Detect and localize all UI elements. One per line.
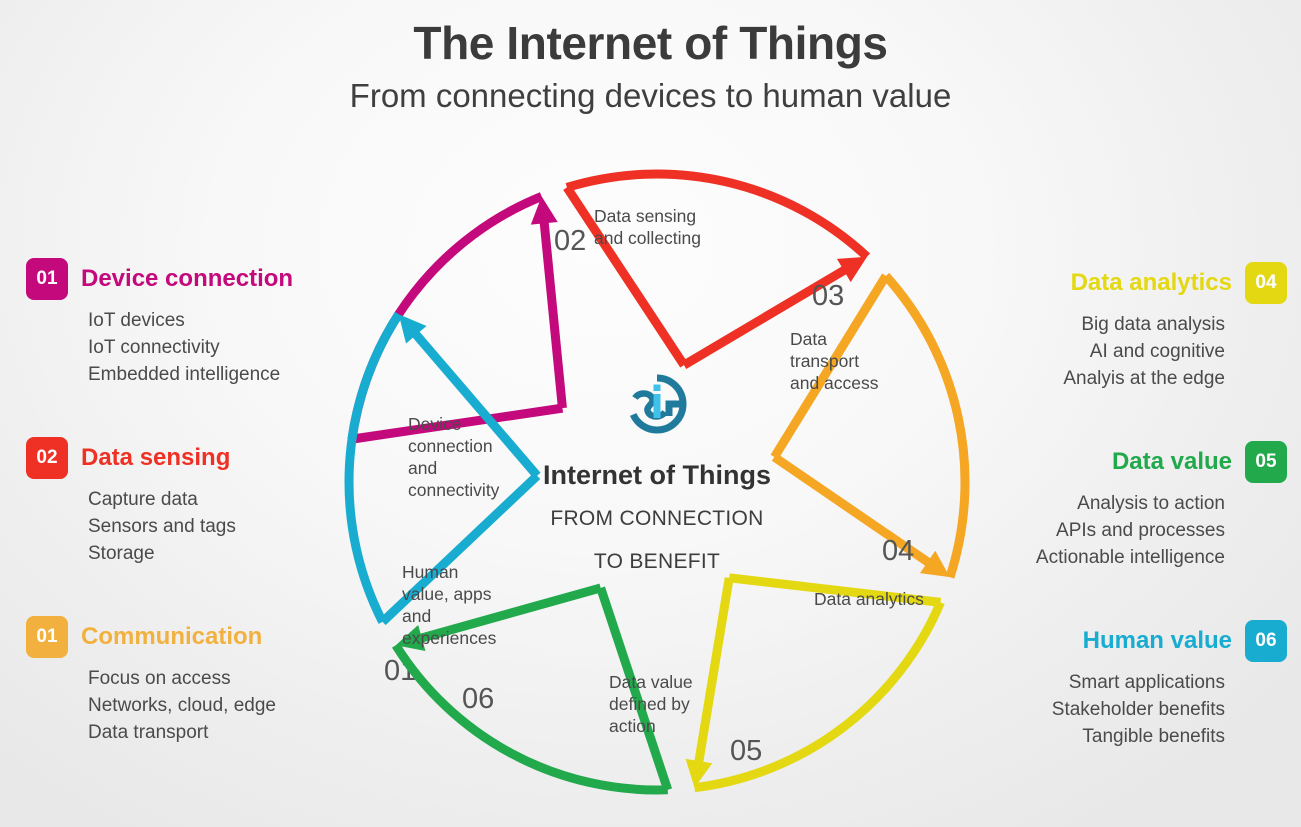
- legend-item[interactable]: 01CommunicationFocus on accessNetworks, …: [26, 616, 371, 747]
- legend-item-header: 04Data analytics: [942, 262, 1287, 304]
- segment-label-line: action: [609, 716, 656, 736]
- segment-label-line: experiences: [402, 628, 497, 648]
- legend-item-title: Communication: [81, 624, 262, 650]
- segment-label-line: transport: [790, 351, 859, 371]
- segment-label-line: defined by: [609, 694, 690, 714]
- legend-item-title: Data value: [1112, 449, 1232, 475]
- legend-item-title: Human value: [1083, 628, 1232, 654]
- legend-item-title: Data sensing: [81, 445, 230, 471]
- legend-number-badge: 04: [1245, 262, 1287, 304]
- legend-item-lines: Analysis to actionAPIs and processesActi…: [942, 491, 1287, 572]
- legend-item[interactable]: 05Data valueAnalysis to actionAPIs and p…: [942, 441, 1287, 572]
- page-title: The Internet of Things: [0, 18, 1301, 70]
- legend-item-lines: Big data analysisAI and cognitiveAnalyis…: [942, 312, 1287, 393]
- legend-item-title: Data analytics: [1071, 270, 1232, 296]
- legend-item-lines: IoT devicesIoT connectivityEmbedded inte…: [26, 308, 371, 389]
- legend-item-lines: Capture dataSensors and tagsStorage: [26, 487, 371, 568]
- segment-label-line: Data analytics: [814, 589, 924, 609]
- segment-number: 05: [730, 735, 762, 767]
- legend-item-lines: Focus on accessNetworks, cloud, edgeData…: [26, 666, 371, 747]
- legend-item-header: 02Data sensing: [26, 437, 371, 479]
- legend-number-badge: 06: [1245, 620, 1287, 662]
- segment-label-line: Human: [402, 562, 458, 582]
- segment-label-line: Device: [408, 414, 462, 434]
- legend-item-title: Device connection: [81, 266, 293, 292]
- page-header: The Internet of Things From connecting d…: [0, 0, 1301, 115]
- segment-label-line: connection: [408, 436, 493, 456]
- legend-item-header: 01Communication: [26, 616, 371, 658]
- left-legend-panel: 01Device connectionIoT devicesIoT connec…: [26, 258, 371, 747]
- cycle-diagram-svg: 01Deviceconnectionandconnectivity02Data …: [322, 160, 992, 820]
- legend-number-badge: 05: [1245, 441, 1287, 483]
- infographic-page: The Internet of Things From connecting d…: [0, 0, 1301, 827]
- segment-label-line: and: [402, 606, 431, 626]
- right-legend-panel: 04Data analyticsBig data analysisAI and …: [942, 262, 1287, 751]
- legend-item[interactable]: 01Device connectionIoT devicesIoT connec…: [26, 258, 371, 389]
- segment-label-line: Data: [790, 329, 827, 349]
- legend-item[interactable]: 04Data analyticsBig data analysisAI and …: [942, 262, 1287, 393]
- segment-number: 04: [882, 535, 914, 567]
- page-subtitle: From connecting devices to human value: [0, 76, 1301, 116]
- segment-label-line: and access: [790, 373, 879, 393]
- segment-label-line: and: [408, 458, 437, 478]
- legend-item-header: 06Human value: [942, 620, 1287, 662]
- segment-number: 06: [462, 683, 494, 715]
- legend-item-header: 01Device connection: [26, 258, 371, 300]
- legend-item-header: 05Data value: [942, 441, 1287, 483]
- segment-label-line: connectivity: [408, 480, 500, 500]
- segment-label-line: Data sensing: [594, 206, 696, 226]
- legend-item[interactable]: 02Data sensingCapture dataSensors and ta…: [26, 437, 371, 568]
- segment-label-line: Data value: [609, 672, 693, 692]
- iot-cycle-wheel: 01Deviceconnectionandconnectivity02Data …: [322, 160, 992, 820]
- legend-number-badge: 01: [26, 616, 68, 658]
- segment-label-line: and collecting: [594, 228, 701, 248]
- segment-number: 03: [812, 280, 844, 312]
- segment-label-line: value, apps: [402, 584, 492, 604]
- legend-number-badge: 02: [26, 437, 68, 479]
- legend-number-badge: 01: [26, 258, 68, 300]
- legend-item[interactable]: 06Human valueSmart applicationsStakehold…: [942, 620, 1287, 751]
- legend-item-lines: Smart applicationsStakeholder benefitsTa…: [942, 670, 1287, 751]
- segment-number: 02: [554, 225, 586, 257]
